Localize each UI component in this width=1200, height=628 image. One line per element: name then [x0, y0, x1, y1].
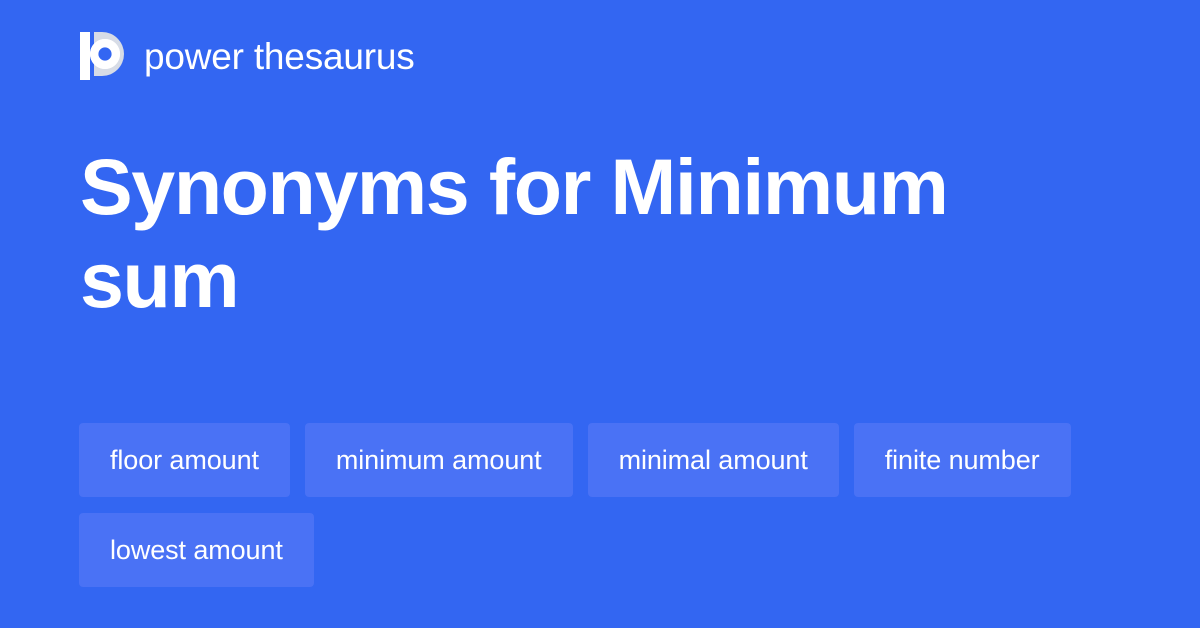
synonym-chip[interactable]: finite number [854, 423, 1071, 497]
brand-header[interactable]: power thesaurus [80, 28, 415, 84]
power-thesaurus-b-logo-icon [80, 32, 124, 80]
share-card: power thesaurus Synonyms for Minimum sum… [0, 0, 1200, 628]
synonym-chip[interactable]: floor amount [79, 423, 290, 497]
brand-name: power thesaurus [144, 38, 415, 75]
synonym-chip[interactable]: minimum amount [305, 423, 573, 497]
synonym-chip[interactable]: lowest amount [79, 513, 314, 587]
page-title: Synonyms for Minimum sum [80, 140, 1040, 326]
synonym-chip-list: floor amount minimum amount minimal amou… [79, 423, 1119, 587]
synonym-chip[interactable]: minimal amount [588, 423, 839, 497]
